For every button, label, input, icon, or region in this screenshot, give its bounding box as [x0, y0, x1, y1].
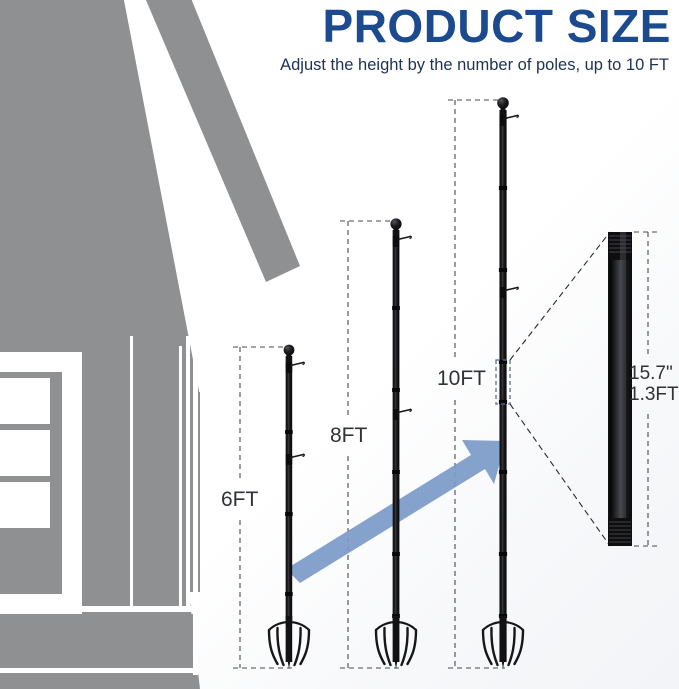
inset-inches-value: 15.7": [629, 363, 679, 384]
measurement-label-8ft: 8FT: [330, 425, 367, 447]
callout-region: [496, 232, 610, 546]
pole-10ft: [483, 97, 523, 669]
measurement-label-6ft: 6FT: [221, 489, 258, 511]
pole-8ft: [376, 218, 416, 669]
inset-feet-value: 1.3FT: [629, 384, 679, 405]
inset-dimension-label: 15.7" 1.3FT: [629, 363, 679, 406]
pole-6ft: [269, 345, 309, 669]
pole-size-diagram: [0, 0, 679, 689]
product-size-infographic: PRODUCT SIZE Adjust the height by the nu…: [0, 0, 679, 689]
measurement-label-10ft: 10FT: [437, 368, 486, 390]
